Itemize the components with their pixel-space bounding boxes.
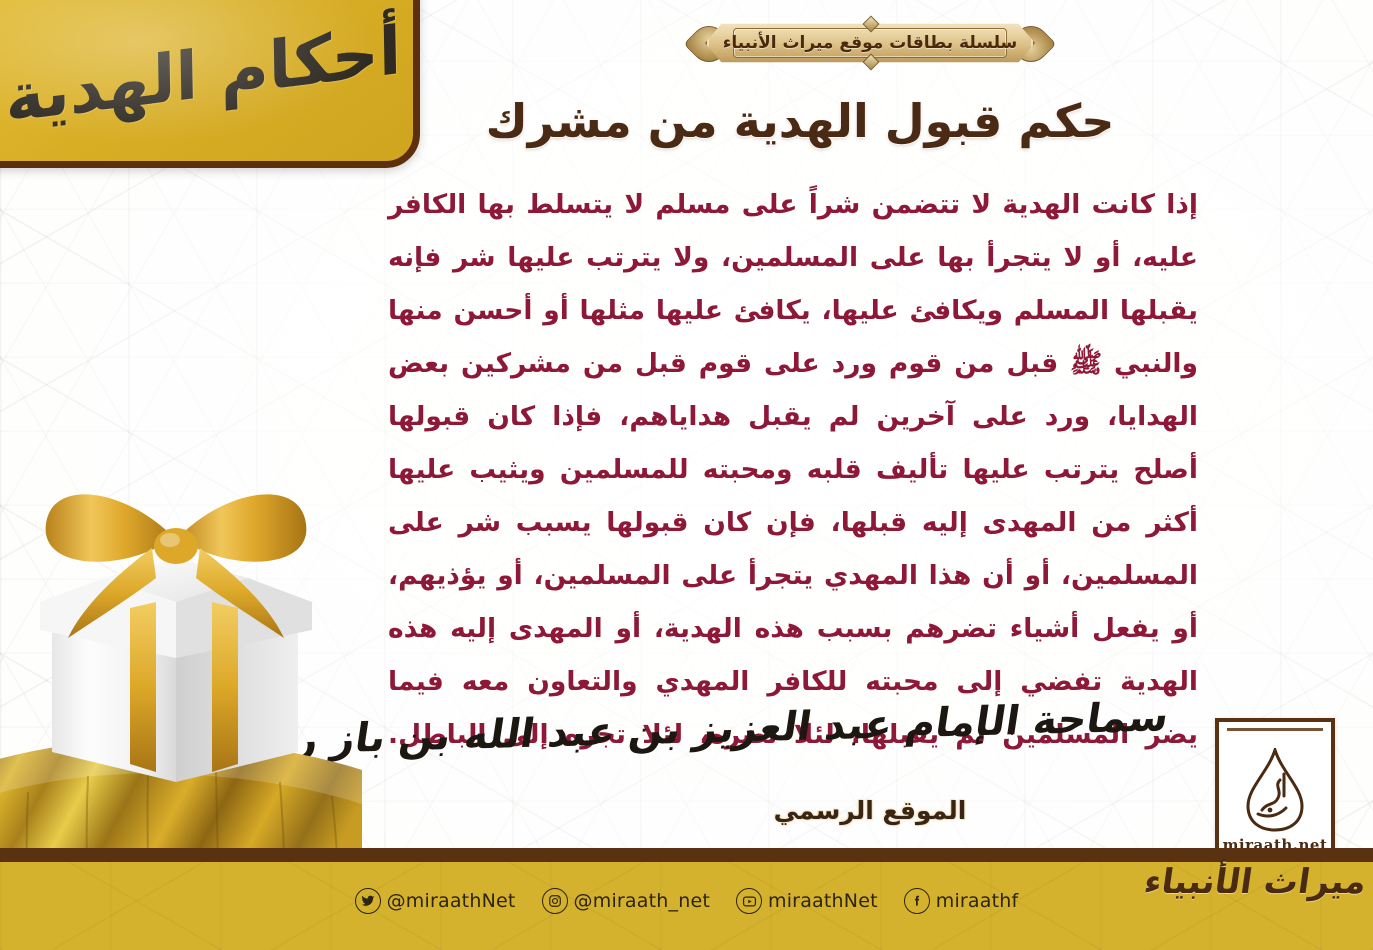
facebook-icon <box>904 888 930 914</box>
series-title-badge-label: أحكام الهدية <box>4 11 401 137</box>
series-plaque-label: سلسلة بطاقات موقع ميراث الأنبياء <box>723 33 1018 53</box>
footer-dark-strip <box>0 848 1373 862</box>
page-title: حكم قبول الهدية من مشرك <box>420 94 1180 154</box>
social-links-row: @miraathNet @miraath_net miraathNet <box>0 884 1373 918</box>
ribbon-vertical-left <box>130 602 156 772</box>
social-link-youtube[interactable]: miraathNet <box>736 888 878 914</box>
social-handle-twitter: @miraathNet <box>387 890 516 912</box>
social-link-facebook[interactable]: miraathf <box>904 888 1019 914</box>
card-root: أحكام الهدية سلسلة بطاقات موقع ميراث الأ… <box>0 0 1373 950</box>
instagram-icon <box>542 888 568 914</box>
ribbon-vertical-right <box>212 602 238 772</box>
social-handle-youtube: miraathNet <box>768 890 878 912</box>
source-label: الموقع الرسمي <box>700 796 1040 825</box>
ribbon-knot <box>154 528 198 564</box>
social-handle-facebook: miraathf <box>936 890 1019 912</box>
body-paragraph: إذا كانت الهدية لا تتضمن شراً على مسلم ل… <box>388 178 1198 761</box>
twitter-icon <box>355 888 381 914</box>
series-title-badge: أحكام الهدية <box>0 0 420 168</box>
social-link-instagram[interactable]: @miraath_net <box>542 888 710 914</box>
scholar-attribution: سماحة الإمام عبد العزيز بن عبد الله بن ب… <box>568 694 1172 783</box>
miraath-dome-mark-icon <box>1244 748 1306 832</box>
social-link-twitter[interactable]: @miraathNet <box>355 888 516 914</box>
series-plaque: سلسلة بطاقات موقع ميراث الأنبياء <box>705 22 1035 64</box>
miraath-logo-block: miraath.net <box>1215 718 1335 861</box>
logo-top-rule <box>1227 728 1323 731</box>
social-handle-instagram: @miraath_net <box>574 890 710 912</box>
youtube-icon <box>736 888 762 914</box>
